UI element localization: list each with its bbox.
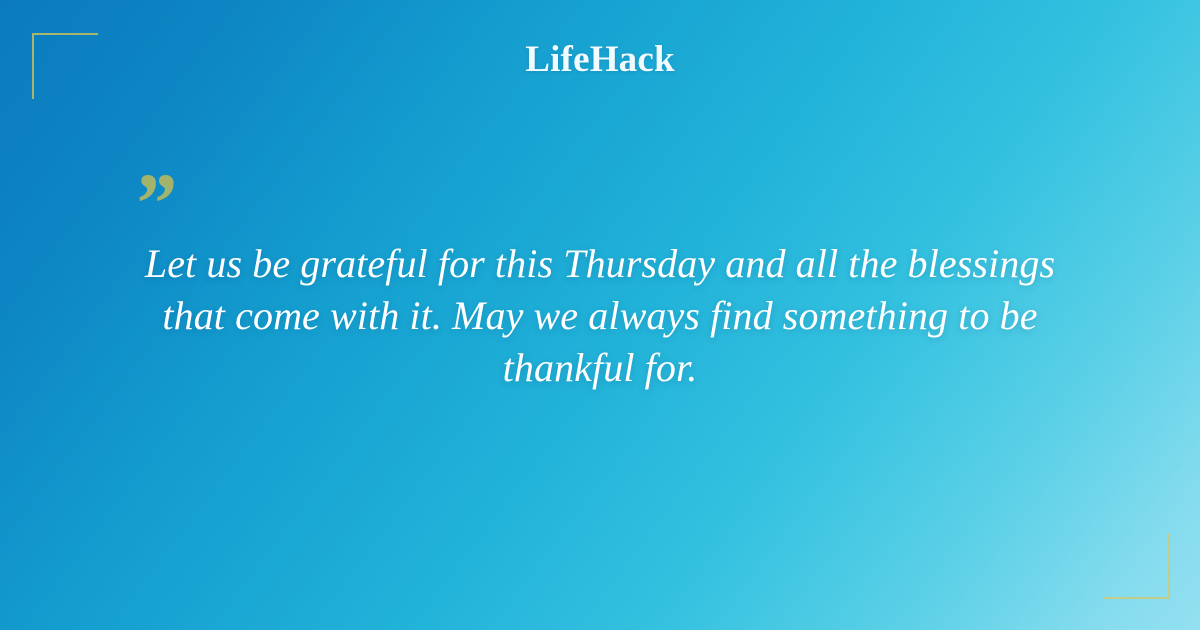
brand-logo: LifeHack	[0, 41, 1200, 78]
quote-card: LifeHack ” Let us be grateful for this T…	[0, 0, 1200, 630]
quotation-mark-icon: ”	[132, 160, 1090, 216]
quote-block: ” Let us be grateful for this Thursday a…	[110, 160, 1090, 394]
corner-bracket-bottom-right-icon	[1104, 533, 1170, 599]
quote-text: Let us be grateful for this Thursday and…	[110, 238, 1090, 394]
